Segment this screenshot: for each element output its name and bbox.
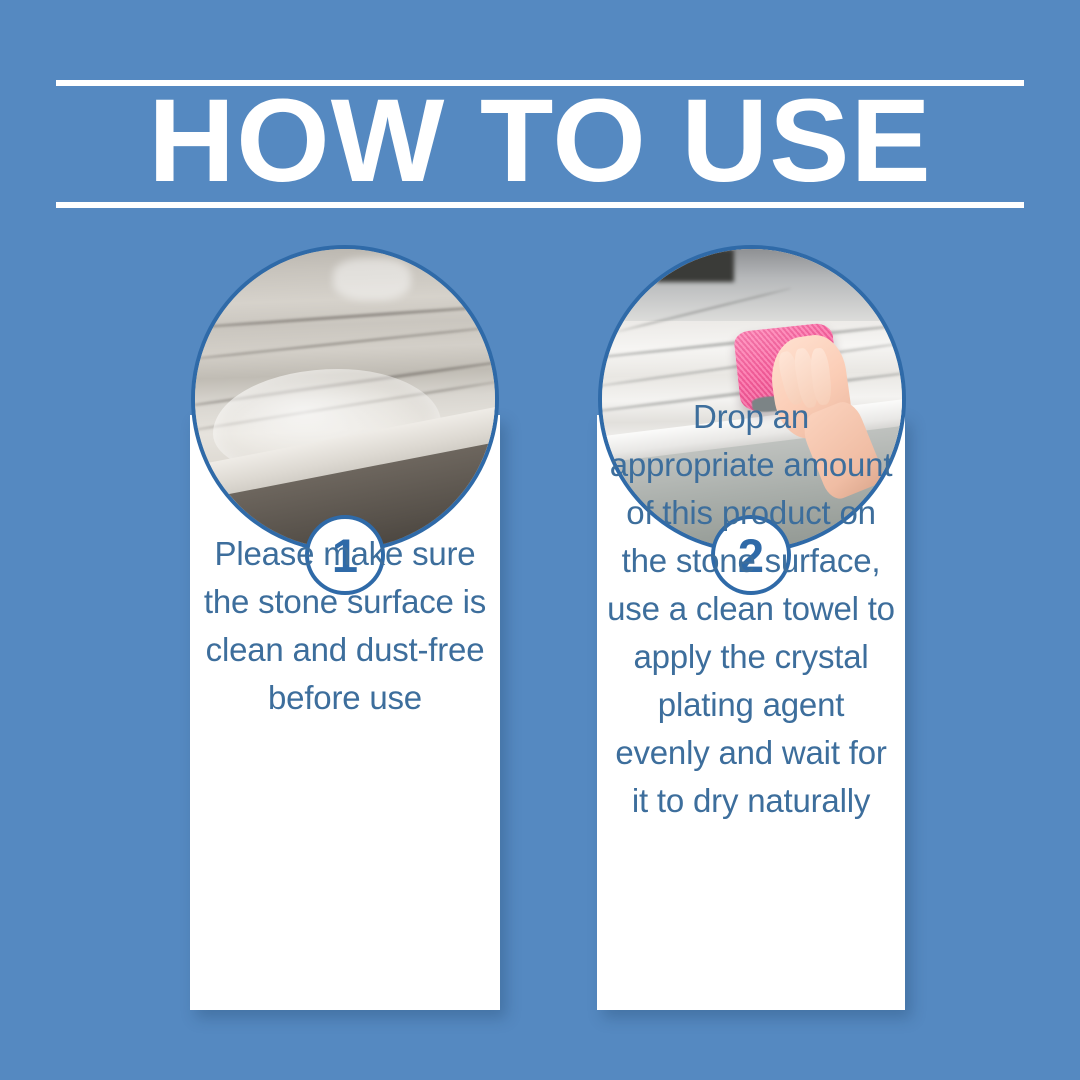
step-2-text: Drop an appropriate amount of this produ… <box>597 393 905 825</box>
background-wall <box>602 249 902 321</box>
step-1-text: Please make sure the stone surface is cl… <box>190 530 500 722</box>
how-to-use-poster: HOW TO USE 1 Please make sure the stone … <box>0 0 1080 1080</box>
stone-surface-photo-highlight <box>333 258 411 300</box>
background-shadow <box>656 249 734 282</box>
stone-surface-photo <box>191 245 499 553</box>
steps-container: 1 Please make sure the stone surface is … <box>0 0 1080 1080</box>
